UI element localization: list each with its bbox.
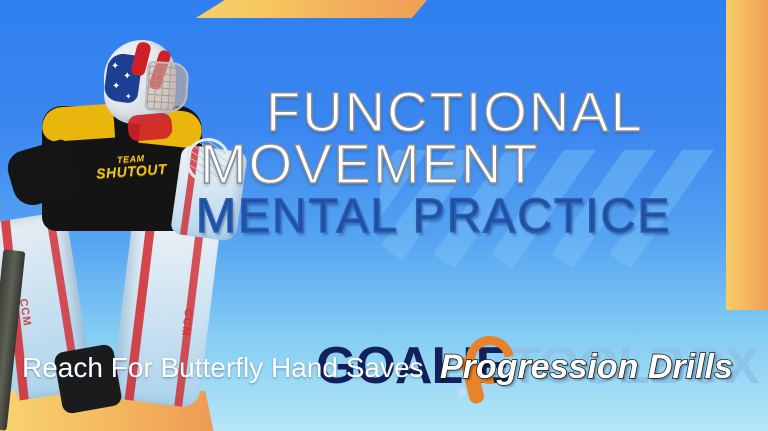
video-frame: CCM CCM TEAM SHUTOUT ✦ ✦ ✦ ✦ FU: [0, 0, 768, 431]
title-block: FUNCTIONAL MOVEMENT MENTAL PRACTICE: [266, 86, 766, 239]
title-line-2: MOVEMENT: [200, 138, 766, 190]
goalie-mask-cage: [144, 61, 189, 114]
jersey-logo-line2: SHUTOUT: [95, 164, 168, 180]
accent-shape-top: [196, 0, 428, 18]
caption-right: Progression Drills: [440, 348, 733, 387]
jersey-shoulder-left: [41, 104, 115, 143]
title-line-1: FUNCTIONAL: [266, 86, 766, 138]
title-line-3: MENTAL PRACTICE: [196, 195, 766, 239]
goalie-mask-chin: [127, 112, 173, 142]
caption-left: Reach For Butterfly Hand Saves: [22, 352, 424, 384]
pad-brand-right: CCM: [179, 308, 194, 337]
jersey-team-logo: TEAM SHUTOUT: [94, 152, 169, 203]
